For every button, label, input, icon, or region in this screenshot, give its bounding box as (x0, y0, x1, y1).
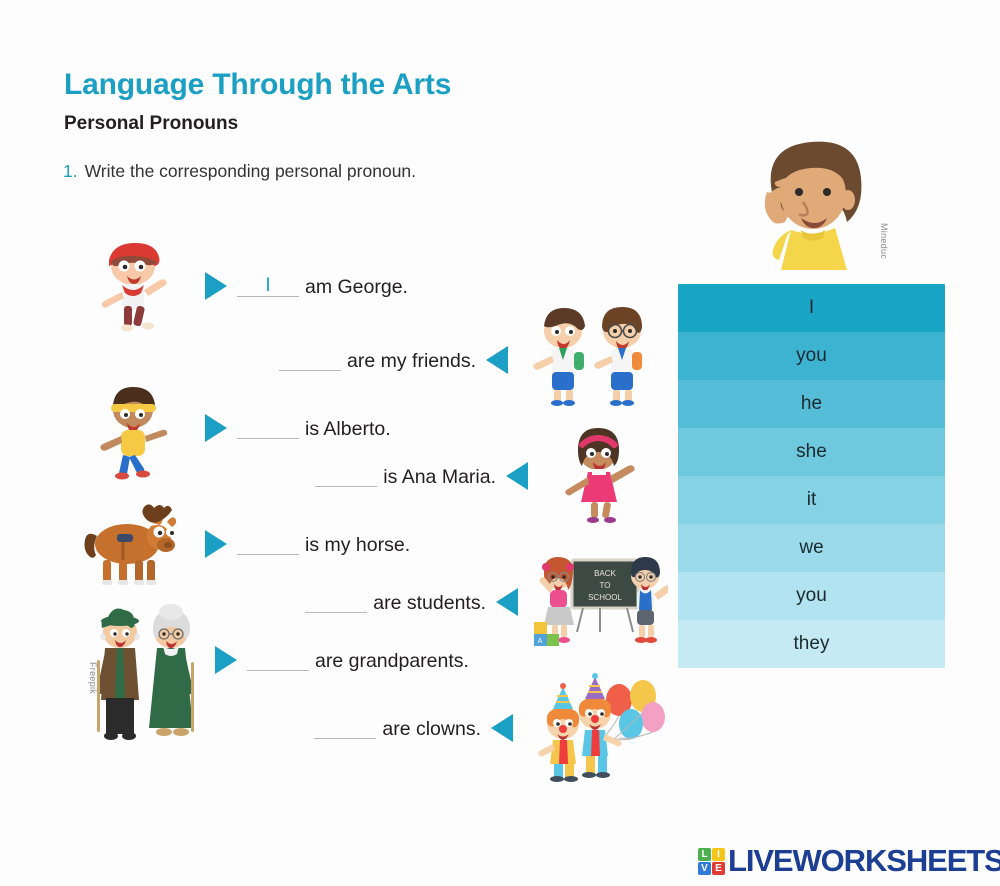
triangle-right-icon (205, 272, 227, 300)
pronoun-label: he (801, 393, 822, 415)
sentence: is Ana Maria. (315, 465, 496, 488)
figure-boy-yellow-headband (75, 380, 195, 476)
sentence: are students. (305, 591, 486, 614)
sentence-text: are grandparents. (315, 650, 469, 673)
answer-blank[interactable] (305, 591, 367, 613)
logo-tiles: L I V E (698, 848, 725, 875)
answer-blank[interactable] (315, 465, 377, 487)
liveworksheets-logo[interactable]: L I V E LIVEWORKSHEETS (698, 843, 1000, 879)
logo-tile-v: V (698, 862, 711, 875)
arrow-triangle-right (195, 380, 237, 476)
exercise-row: are clowns. (248, 680, 668, 776)
pronoun-label: we (799, 537, 823, 559)
watermark-mineduc: Mineduc (879, 223, 889, 259)
arrow-triangle-right (205, 612, 247, 708)
svg-text:TO: TO (600, 581, 611, 590)
pronoun-cell-it[interactable]: it (678, 476, 945, 524)
pronoun-cell-you-plural[interactable]: you (678, 572, 945, 620)
triangle-right-icon (205, 414, 227, 442)
sentence: is my horse. (237, 533, 410, 556)
pronoun-cell-we[interactable]: we (678, 524, 945, 572)
answer-blank[interactable]: I (237, 275, 299, 297)
pronoun-cell-i[interactable]: I (678, 284, 945, 332)
watermark-freepik: Freepik (88, 662, 98, 694)
pronoun-label: you (796, 585, 827, 607)
answer-blank[interactable] (314, 717, 376, 739)
pronoun-label: you (796, 345, 827, 367)
answer-blank[interactable] (247, 649, 309, 671)
sentence: are grandparents. (247, 649, 469, 672)
sentence: I am George. (237, 275, 408, 298)
sentence: are clowns. (314, 717, 481, 740)
pronoun-label: I (809, 297, 814, 319)
triangle-right-icon (205, 530, 227, 558)
figure-thinking-boy: Mineduc (735, 130, 885, 275)
logo-tile-i: I (712, 848, 725, 861)
sentence-text: are my friends. (347, 350, 476, 373)
figure-two-clowns (523, 680, 668, 776)
svg-text:BACK: BACK (594, 569, 616, 578)
arrow-triangle-right (195, 496, 237, 592)
triangle-left-icon (506, 462, 528, 490)
sentence-text: am George. (305, 276, 408, 299)
triangle-right-icon (215, 646, 237, 674)
pronoun-cell-she[interactable]: she (678, 428, 945, 476)
exercise-area: I am George. are my friends. (0, 0, 660, 886)
figure-brown-horse (75, 496, 195, 592)
triangle-left-icon (486, 346, 508, 374)
answer-blank[interactable] (237, 533, 299, 555)
logo-tile-e: E (712, 862, 725, 875)
arrow-triangle-left (481, 680, 523, 776)
sentence: are my friends. (279, 349, 476, 372)
arrow-triangle-right (195, 238, 237, 334)
pronoun-label: it (807, 489, 817, 511)
pronoun-cell-you-singular[interactable]: you (678, 332, 945, 380)
pronoun-label: they (794, 633, 830, 655)
logo-wordmark: LIVEWORKSHEETS (728, 843, 1000, 879)
sentence-text: are clowns. (382, 718, 481, 741)
answer-blank[interactable] (279, 349, 341, 371)
triangle-left-icon (491, 714, 513, 742)
sentence-text: is Ana Maria. (383, 466, 496, 489)
pronoun-cell-they[interactable]: they (678, 620, 945, 668)
pronoun-cell-he[interactable]: he (678, 380, 945, 428)
figure-boy-red-cap (75, 238, 195, 334)
pronoun-reference-box: I you he she it we you they (678, 284, 945, 668)
svg-text:SCHOOL: SCHOOL (588, 593, 622, 602)
pronoun-label: she (796, 441, 827, 463)
logo-tile-l: L (698, 848, 711, 861)
